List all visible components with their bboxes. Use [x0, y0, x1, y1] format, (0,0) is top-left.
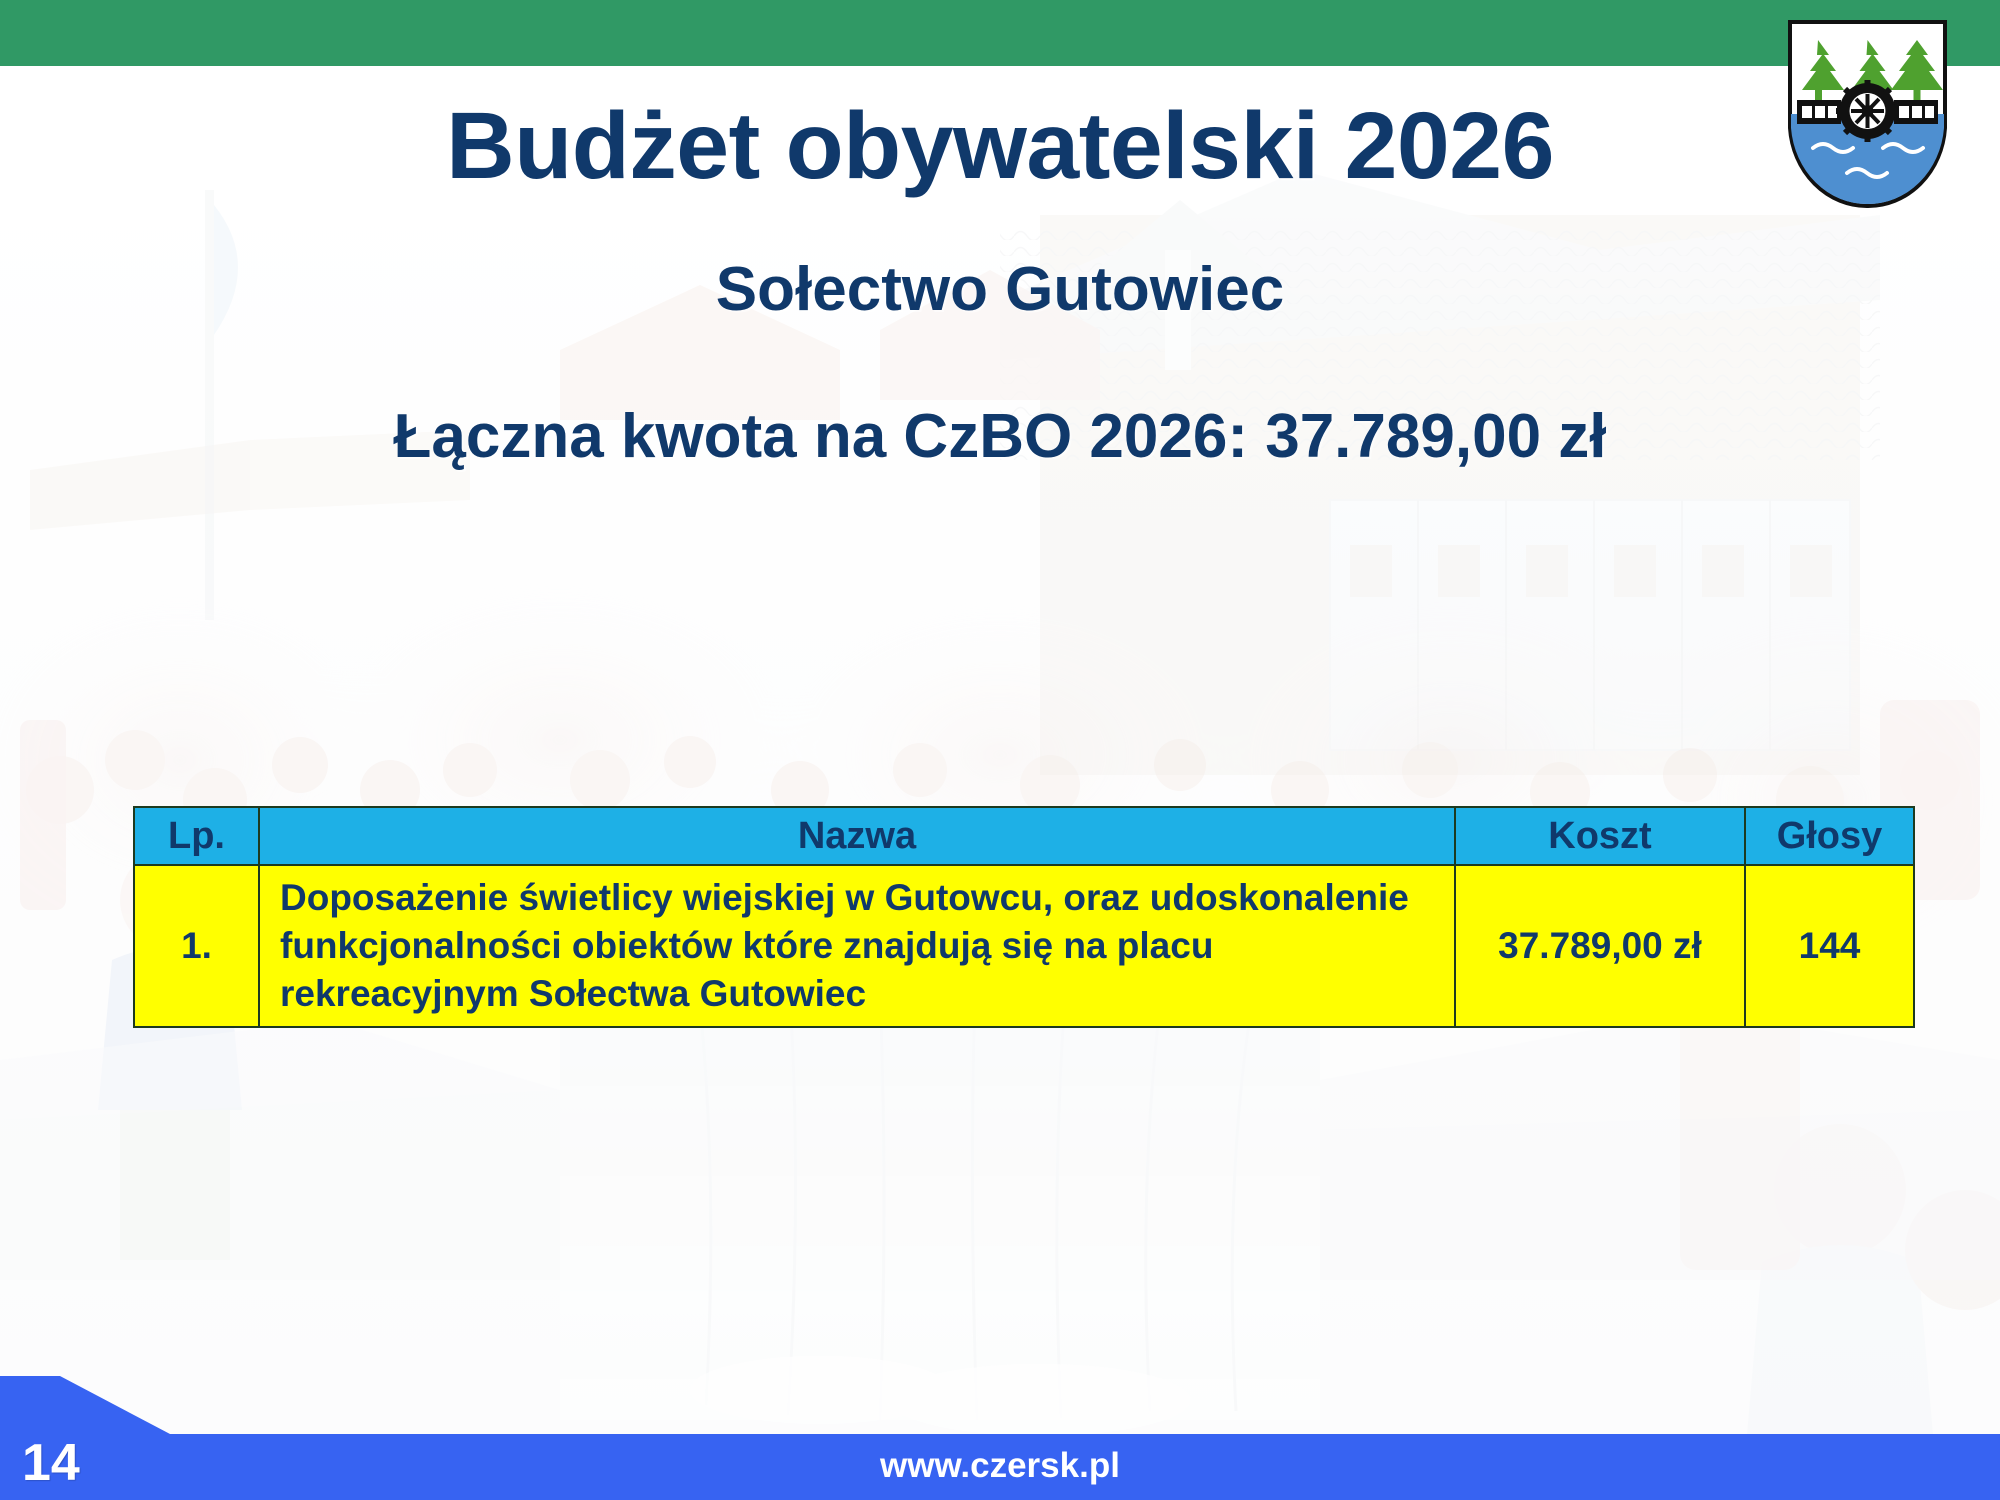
heading-block: Budżet obywatelski 2026 Sołectwo Gutowie…	[0, 96, 2000, 471]
column-header-nazwa: Nazwa	[259, 807, 1455, 865]
table-header-row: Lp. Nazwa Koszt Głosy	[134, 807, 1914, 865]
presentation-slide: Budżet obywatelski 2026 Sołectwo Gutowie…	[0, 0, 2000, 1500]
footer-website-url[interactable]: www.czersk.pl	[0, 1448, 2000, 1483]
total-amount-line: Łączna kwota na CzBO 2026: 37.789,00 zł	[0, 404, 2000, 471]
column-header-koszt: Koszt	[1455, 807, 1745, 865]
cell-lp: 1.	[134, 865, 259, 1027]
table-head: Lp. Nazwa Koszt Głosy	[134, 807, 1914, 865]
column-header-lp: Lp.	[134, 807, 259, 865]
projects-table-wrapper: Lp. Nazwa Koszt Głosy 1. Doposażenie świ…	[133, 806, 1913, 1028]
cell-nazwa: Doposażenie świetlicy wiejskiej w Gutowc…	[259, 865, 1455, 1027]
table-row: 1. Doposażenie świetlicy wiejskiej w Gut…	[134, 865, 1914, 1027]
top-green-band	[0, 0, 2000, 66]
footer-wedge-shape	[0, 1376, 170, 1436]
table-body: 1. Doposażenie świetlicy wiejskiej w Gut…	[134, 865, 1914, 1027]
cell-koszt: 37.789,00 zł	[1455, 865, 1745, 1027]
page-subtitle: Sołectwo Gutowiec	[0, 257, 2000, 324]
cell-glosy: 144	[1745, 865, 1914, 1027]
coat-of-arms-icon	[1785, 18, 1950, 210]
column-header-glosy: Głosy	[1745, 807, 1914, 865]
projects-table: Lp. Nazwa Koszt Głosy 1. Doposażenie świ…	[133, 806, 1915, 1028]
page-title: Budżet obywatelski 2026	[0, 96, 2000, 197]
